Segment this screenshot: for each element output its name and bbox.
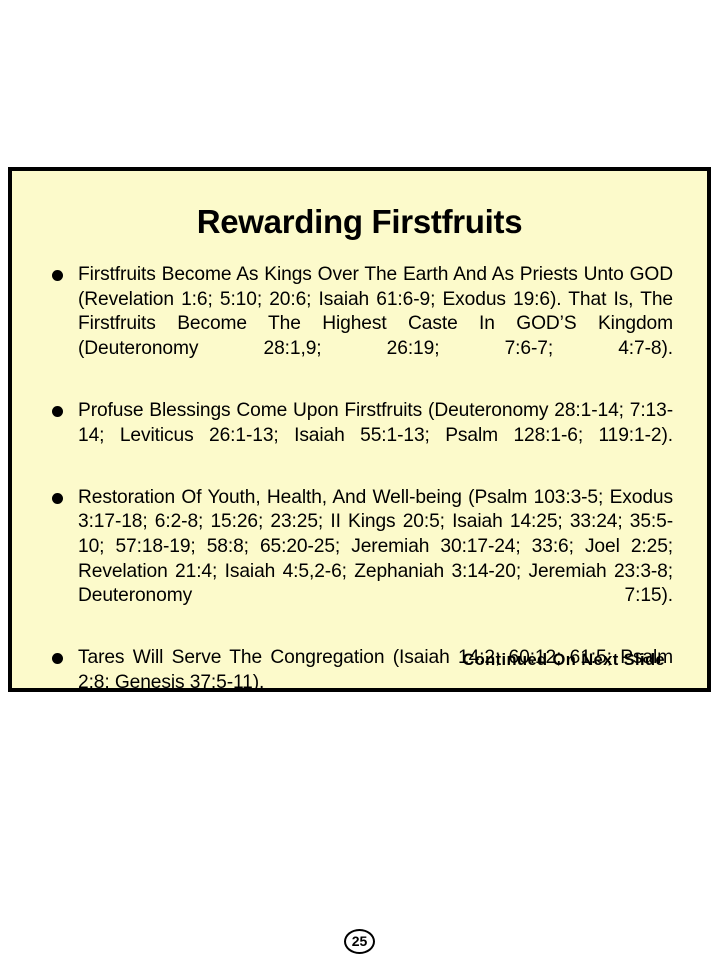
slide-title: Rewarding Firstfruits	[12, 205, 707, 238]
page-number-badge: 25	[344, 929, 375, 954]
slide-frame: Rewarding Firstfruits Firstfruits Become…	[8, 167, 711, 692]
bullet-item: Firstfruits Become As Kings Over The Ear…	[48, 263, 673, 386]
continued-notice: Continued On Next Slide	[12, 651, 707, 670]
bullet-text: Profuse Blessings Come Upon Firstfruits …	[78, 399, 673, 473]
bullet-dot-icon	[52, 270, 63, 281]
bullet-dot-icon	[52, 406, 63, 417]
bullet-item: Profuse Blessings Come Upon Firstfruits …	[48, 399, 673, 473]
bullet-list: Firstfruits Become As Kings Over The Ear…	[48, 263, 673, 709]
bullet-item: Restoration Of Youth, Health, And Well-b…	[48, 486, 673, 634]
bullet-dot-icon	[52, 493, 63, 504]
bullet-text: Restoration Of Youth, Health, And Well-b…	[78, 486, 673, 634]
bullet-text: Firstfruits Become As Kings Over The Ear…	[78, 263, 673, 386]
